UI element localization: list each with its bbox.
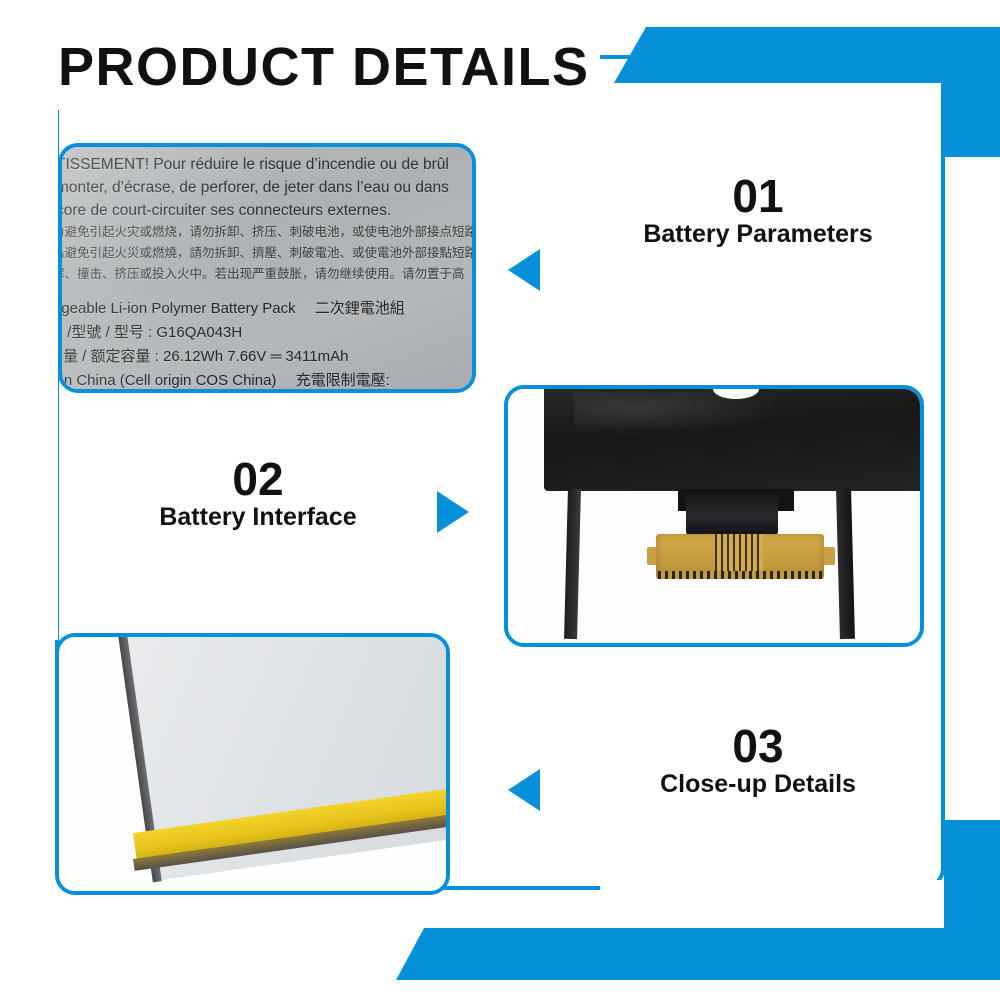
label-warning-line-fr-2: monter, d’écrase, de perforer, de jeter … — [58, 176, 472, 199]
label-cell-origin: e in China (Cell origin COS China) 充電限制電… — [58, 369, 472, 393]
label-warning-line-cn-1: 为避免引起火灾或燃烧，请勿拆卸、挤压、刺破电池，或使电池外部接点短路；请 — [58, 222, 472, 243]
connector-pins — [658, 571, 822, 579]
callout-caption-02: Battery Interface — [108, 503, 408, 532]
top-right-accent-riser — [944, 27, 1000, 157]
label-spacer — [62, 285, 472, 297]
callout-number-02: 02 — [108, 455, 408, 503]
label-warning-line-cn-3: 解、撞击、挤压或投入火中。若出现严重鼓胀，请勿继续使用。请勿置于高 — [58, 264, 472, 285]
label-model-number: 制 /型號 / 型号 : G16QA043H — [58, 321, 472, 345]
callout-closeup-details: 03 Close-up Details — [598, 722, 918, 799]
callout-battery-parameters: 01 Battery Parameters — [588, 172, 928, 249]
battery-interface-image — [508, 389, 920, 643]
battery-label-photo-panel: TISSEMENT! Pour réduire le risque d’ince… — [58, 143, 476, 393]
battery-cell-closeup-image — [59, 637, 446, 891]
product-details-infographic: PRODUCT DETAILS TISSEMENT! Pour réduire … — [0, 0, 1000, 1000]
callout-battery-interface: 02 Battery Interface — [108, 455, 408, 532]
battery-right-rail — [836, 489, 855, 639]
battery-interface-photo-panel — [504, 385, 924, 647]
battery-body — [544, 385, 924, 491]
battery-warning-label-image: TISSEMENT! Pour réduire le risque d’ince… — [62, 147, 472, 389]
label-battery-type: argeable Li-ion Polymer Battery Pack 二次鋰… — [58, 297, 472, 321]
callout-number-03: 03 — [598, 722, 918, 770]
ribbon-cable — [686, 489, 778, 537]
page-title: PRODUCT DETAILS — [58, 36, 590, 98]
label-warning-line-fr-3: core de court-circuiter ses connecteurs … — [58, 199, 472, 222]
callout-caption-01: Battery Parameters — [588, 220, 928, 249]
arrow-left-icon-03 — [508, 769, 540, 811]
closeup-photo-panel — [55, 633, 450, 895]
connector-ear-right — [823, 547, 835, 565]
label-warning-line-cn-2: 爲避免引起火災或燃燒，請勿拆卸、擠壓、刺破電池、或使電池外部接點短路；請 — [58, 243, 472, 264]
top-accent-band — [614, 27, 1000, 83]
label-rated-capacity: 容量 / 额定容量 : 26.12Wh 7.66V ═ 3411mAh — [58, 345, 472, 369]
callout-number-01: 01 — [588, 172, 928, 220]
battery-left-rail — [564, 489, 581, 639]
arrow-left-icon-01 — [508, 249, 540, 291]
arrow-right-icon-02 — [437, 491, 469, 533]
bottom-right-accent-riser — [944, 820, 1000, 980]
bottom-accent-band — [396, 928, 1000, 980]
label-warning-line-fr-1: TISSEMENT! Pour réduire le risque d’ince… — [58, 153, 472, 176]
callout-caption-03: Close-up Details — [598, 770, 918, 799]
